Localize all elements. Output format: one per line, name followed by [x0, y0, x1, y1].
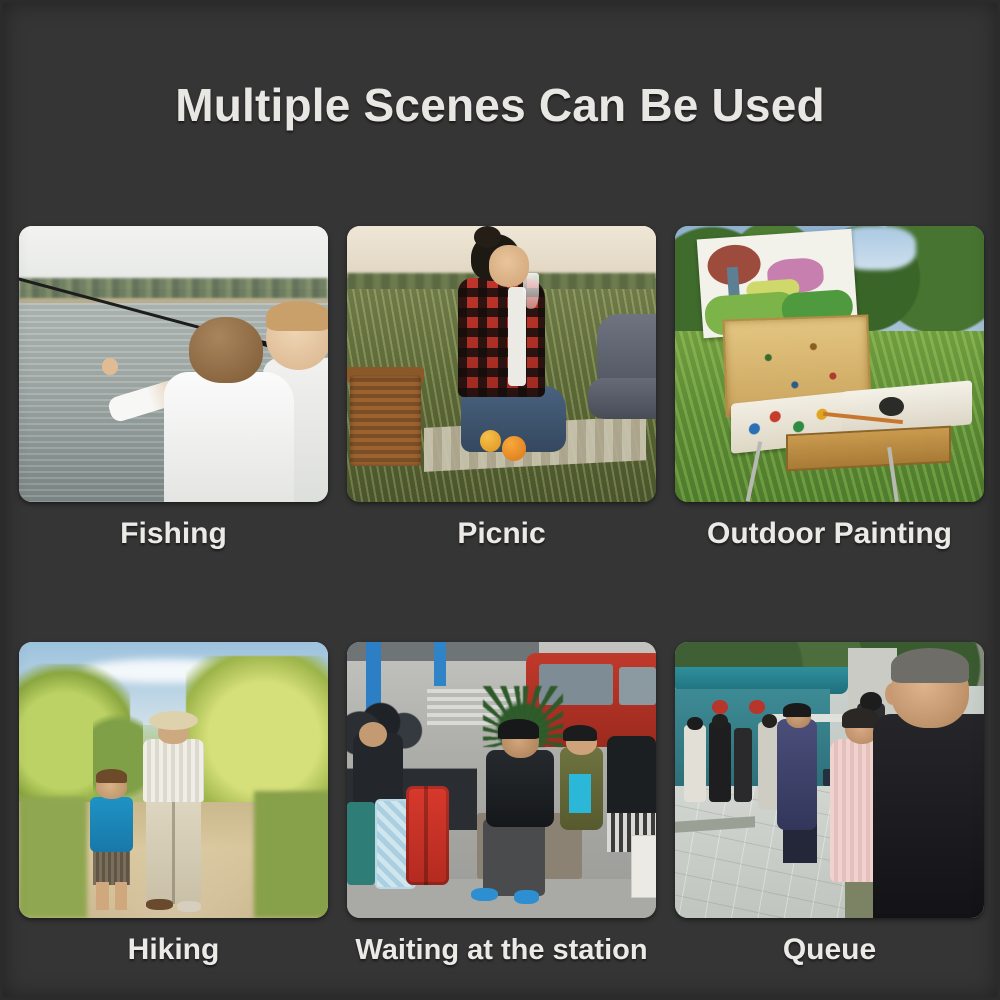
queuer-4-head	[762, 714, 777, 728]
scene-card-hiking[interactable]: Hiking	[19, 642, 328, 968]
page-title: Multiple Scenes Can Be Used	[0, 78, 1000, 132]
path-edge-left	[19, 797, 87, 918]
boy-leg-left	[96, 882, 108, 910]
boy-leg-right	[115, 882, 127, 910]
photo-outdoor-painting	[675, 226, 984, 502]
child-hair	[563, 725, 597, 742]
queuer-1	[684, 725, 706, 802]
scene-caption-fishing: Fishing	[19, 516, 328, 552]
teal-suitcase	[347, 802, 375, 885]
orange-fruit	[502, 436, 527, 461]
photo-queue	[675, 642, 984, 918]
queuer-2-head	[712, 714, 727, 728]
companion-legs	[588, 378, 656, 419]
blue-shoe-right	[514, 890, 539, 904]
truck-side-window	[619, 667, 656, 706]
navy-man-jacket	[777, 719, 817, 829]
navy-man-hair	[783, 703, 811, 717]
scene-row-1: Fishing	[19, 226, 984, 552]
scene-image-waiting-at-the-station[interactable]	[347, 642, 656, 918]
scene-grid: Fishing	[19, 226, 984, 968]
man-black-jacket	[486, 750, 554, 827]
scene-image-fishing[interactable]	[19, 226, 328, 502]
queuer-3	[734, 728, 753, 803]
man-trousers	[146, 799, 202, 904]
boy-hair	[96, 769, 127, 783]
blue-shoe-left	[471, 888, 499, 902]
woman-face	[489, 245, 529, 286]
child-shirt	[569, 774, 591, 813]
wicker-basket	[350, 375, 421, 466]
scene-card-queue[interactable]: Queue	[675, 642, 984, 968]
photo-fishing	[19, 226, 328, 502]
scene-caption-hiking: Hiking	[19, 932, 328, 968]
photo-station	[347, 642, 656, 918]
scene-caption-outdoor-painting: Outdoor Painting	[675, 516, 984, 552]
queuer-1-head	[687, 717, 702, 731]
man-legs	[483, 819, 545, 896]
pointing-hand	[102, 358, 117, 375]
scene-card-picnic[interactable]: Picnic	[347, 226, 656, 552]
scene-caption-picnic: Picnic	[347, 516, 656, 552]
scene-card-waiting-at-the-station[interactable]: Waiting at the station	[347, 642, 656, 968]
scene-card-outdoor-painting[interactable]: Outdoor Painting	[675, 226, 984, 552]
man-shoe-right	[177, 901, 202, 912]
foreground-man-hair	[891, 648, 968, 684]
seated-person-left-head	[359, 722, 387, 747]
bus-light-left	[712, 700, 727, 714]
queuer-2	[709, 722, 731, 802]
scene-card-fishing[interactable]: Fishing	[19, 226, 328, 552]
bus-light-right	[749, 700, 764, 714]
man-shoe-left	[146, 899, 174, 910]
white-box	[631, 835, 656, 898]
first-boy-head	[189, 317, 263, 383]
man-shirt	[143, 739, 205, 802]
boy-blue-shirt	[90, 797, 133, 852]
photo-hiking	[19, 642, 328, 918]
man-hair	[498, 719, 538, 738]
red-suitcase	[406, 786, 449, 885]
scene-row-2: Hiking	[19, 642, 984, 968]
scene-image-outdoor-painting[interactable]	[675, 226, 984, 502]
path-edge-right	[254, 791, 328, 918]
scene-caption-queue: Queue	[675, 932, 984, 968]
scene-image-picnic[interactable]	[347, 226, 656, 502]
boy-shorts	[93, 849, 130, 885]
scene-image-hiking[interactable]	[19, 642, 328, 918]
scene-image-queue[interactable]	[675, 642, 984, 918]
photo-picnic	[347, 226, 656, 502]
second-boy-hair	[266, 301, 328, 331]
first-boy-body	[164, 372, 294, 502]
foreground-man-tshirt	[873, 714, 984, 918]
scene-caption-waiting-at-the-station: Waiting at the station	[347, 932, 656, 968]
palette-thumb-hole	[879, 397, 904, 416]
